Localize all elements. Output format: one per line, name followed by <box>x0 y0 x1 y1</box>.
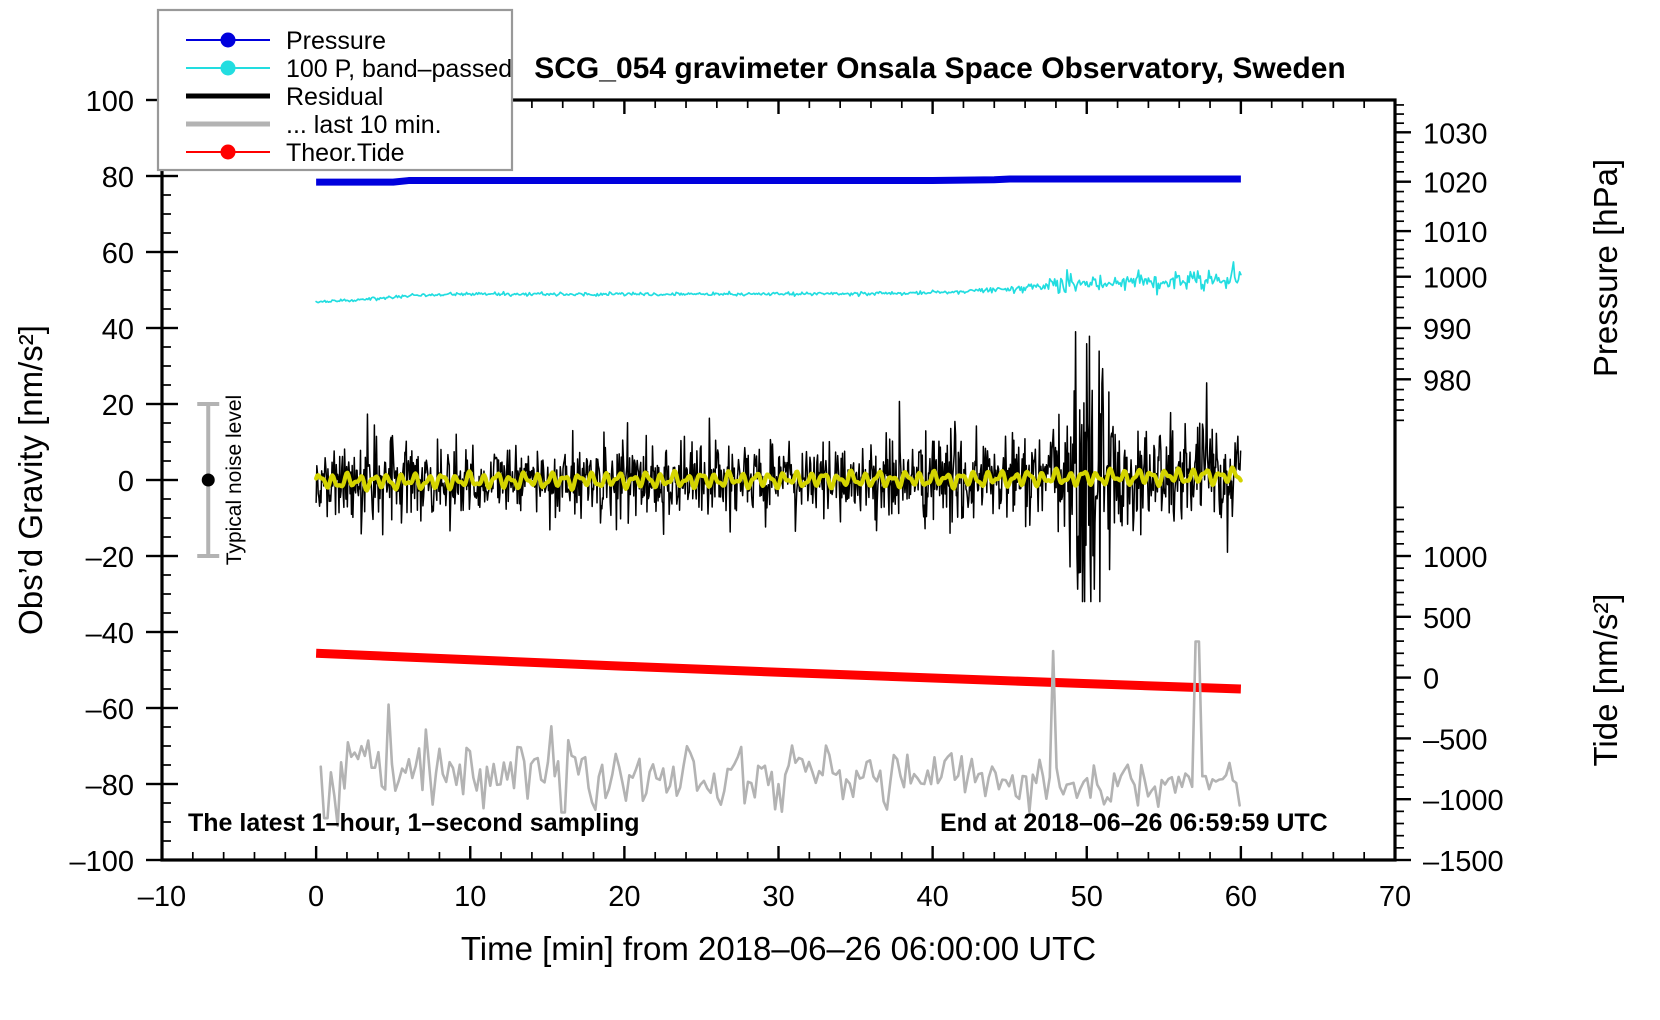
xtick-label-7: 60 <box>1225 881 1257 913</box>
pressure-tick-label-3: 1010 <box>1423 217 1488 249</box>
theor-tide-trace <box>316 653 1241 689</box>
xtick-label-6: 50 <box>1071 881 1103 913</box>
ytick-label-0: –100 <box>69 846 134 878</box>
residual-trace <box>316 332 1241 602</box>
ytick-label-1: –80 <box>86 770 134 802</box>
xtick-label-3: 20 <box>608 881 640 913</box>
legend-label-2: Residual <box>286 83 383 111</box>
ytick-label-7: 40 <box>102 314 134 346</box>
annotation-latest-hour: The latest 1–hour, 1–second sampling <box>188 809 640 837</box>
tide-tick-label-2: –500 <box>1423 724 1488 756</box>
y-axis-title-left: Obs’d Gravity [nm/s²] <box>12 325 49 635</box>
pressure-trace <box>316 179 1241 182</box>
ytick-label-8: 60 <box>102 238 134 270</box>
tide-tick-label-5: 1000 <box>1423 542 1488 574</box>
tide-tick-label-1: –1000 <box>1423 785 1504 817</box>
legend-marker-1 <box>221 61 236 76</box>
legend-label-3: ... last 10 min. <box>286 111 442 139</box>
xtick-label-1: 0 <box>308 881 324 913</box>
figure-canvas: –10010203040506070Time [min] from 2018–0… <box>0 0 1660 1020</box>
ytick-label-6: 20 <box>102 390 134 422</box>
annotation-end-time: End at 2018–06–26 06:59:59 UTC <box>940 809 1328 837</box>
ytick-label-2: –60 <box>86 694 134 726</box>
xtick-label-8: 70 <box>1379 881 1411 913</box>
pressure-tick-label-4: 1020 <box>1423 168 1488 200</box>
tide-tick-label-4: 500 <box>1423 603 1471 635</box>
y-axis-title-tide: Tide [nm/s²] <box>1587 594 1624 767</box>
legend-label-0: Pressure <box>286 27 386 55</box>
ytick-label-10: 100 <box>86 86 134 118</box>
tide-tick-label-3: 0 <box>1423 664 1439 696</box>
ytick-label-3: –40 <box>86 618 134 650</box>
noise-bar-center-dot <box>202 474 215 487</box>
legend-label-1: 100 P, band–passed <box>286 55 512 83</box>
legend-marker-0 <box>221 33 236 48</box>
ytick-label-5: 0 <box>118 466 134 498</box>
x-axis-title: Time [min] from 2018–06–26 06:00:00 UTC <box>461 930 1096 967</box>
ytick-label-4: –20 <box>86 542 134 574</box>
pressure-tick-label-0: 980 <box>1423 365 1471 397</box>
legend-label-4: Theor.Tide <box>286 139 405 167</box>
xtick-label-5: 40 <box>916 881 948 913</box>
plot-title: SCG_054 gravimeter Onsala Space Observat… <box>534 52 1346 85</box>
xtick-label-0: –10 <box>138 881 186 913</box>
y-axis-title-pressure: Pressure [hPa] <box>1587 159 1624 377</box>
pressure-tick-label-5: 1030 <box>1423 118 1488 150</box>
gravimeter-plot: –10010203040506070Time [min] from 2018–0… <box>0 0 1660 1020</box>
tide-tick-label-0: –1500 <box>1423 846 1504 878</box>
ytick-label-9: 80 <box>102 162 134 194</box>
pressure-tick-label-1: 990 <box>1423 314 1471 346</box>
pressure-tick-label-2: 1000 <box>1423 263 1488 295</box>
band-passed-trace <box>316 262 1241 303</box>
noise-level-label: Typical noise level <box>223 395 246 565</box>
xtick-label-2: 10 <box>454 881 486 913</box>
legend-marker-4 <box>221 145 236 160</box>
xtick-label-4: 30 <box>762 881 794 913</box>
